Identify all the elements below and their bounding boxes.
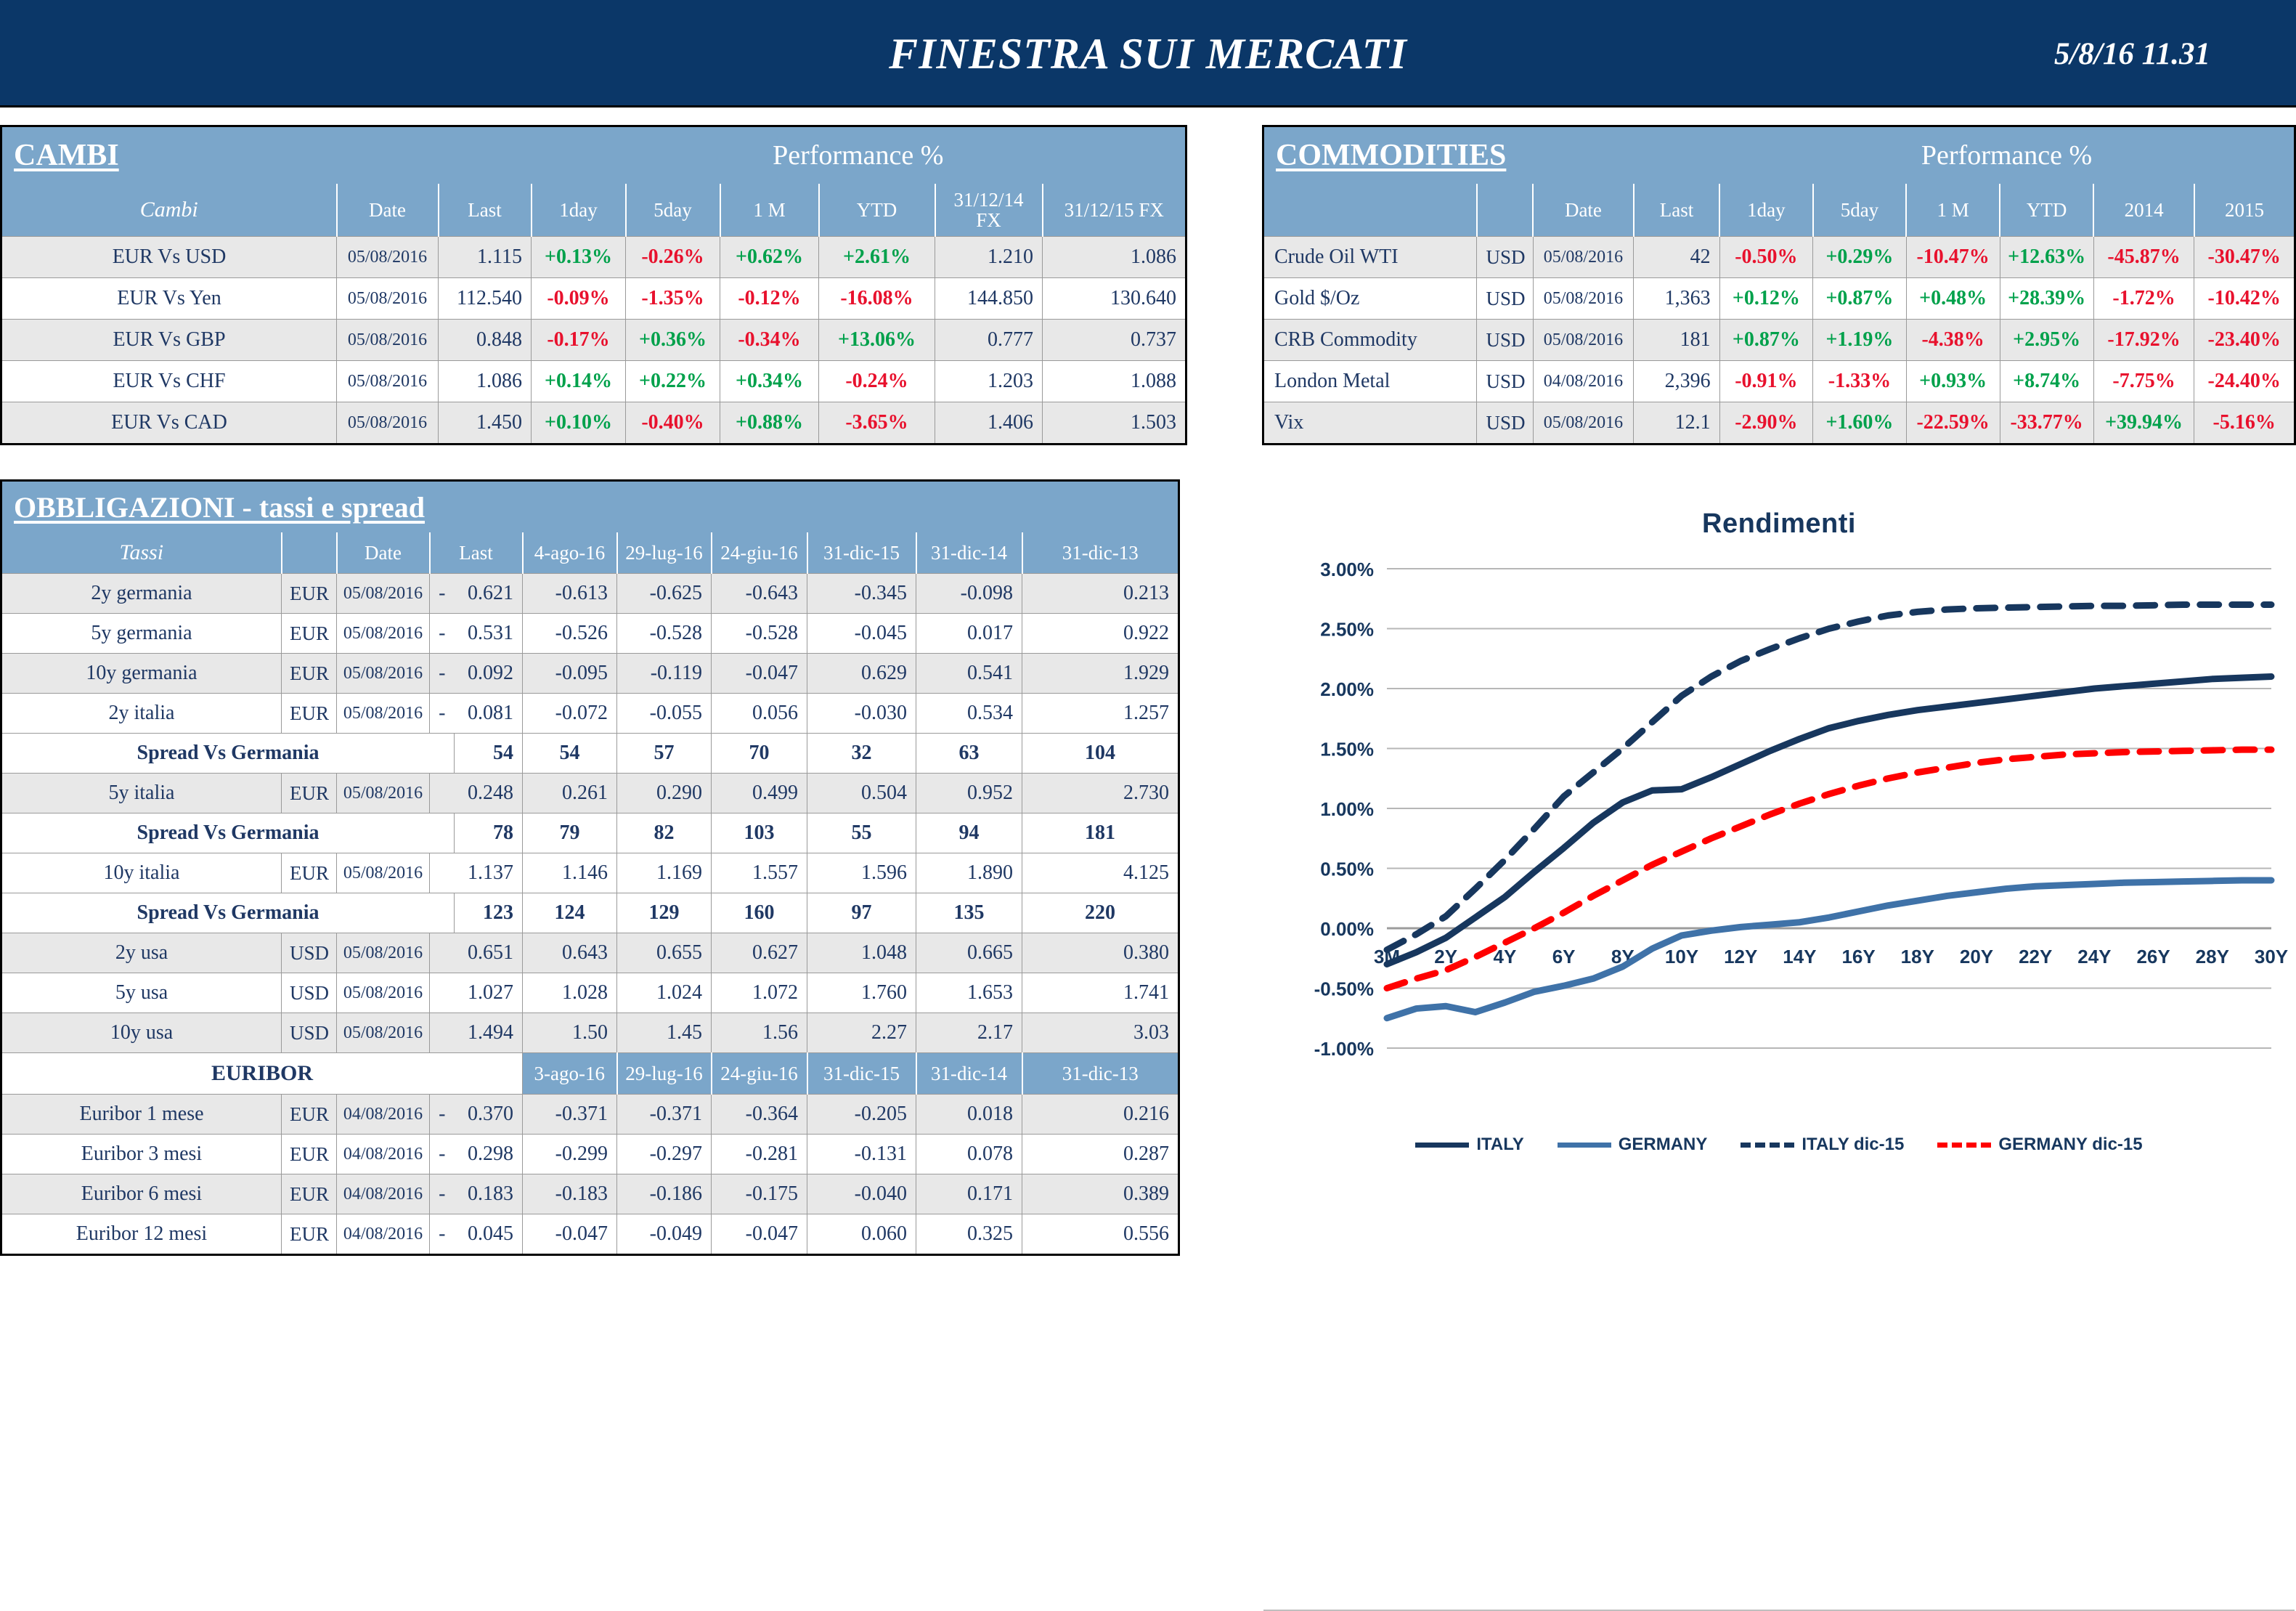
bond-row-c6: 1.741 [1022, 973, 1179, 1013]
spread-row: Spread Vs Germania545457703263104 [1, 734, 1179, 774]
bond-row-last: 1.137 [455, 853, 523, 893]
spread-c6: 220 [1022, 893, 1179, 933]
obbligazioni-col-currency [282, 532, 337, 574]
spread-c5: 135 [916, 893, 1022, 933]
bond-row-c5: 2.17 [916, 1013, 1022, 1053]
commodity-row-m1: -22.59% [1906, 402, 2000, 445]
cambi-row-last: 0.848 [439, 320, 532, 361]
bond-row-date: 05/08/2016 [337, 694, 430, 734]
table-row: 5y usaUSD05/08/20161.0271.0281.0241.0721… [1, 973, 1179, 1013]
cambi-row-fx15: 1.086 [1043, 237, 1186, 278]
spread-c2: 82 [617, 813, 712, 853]
spread-last: 54 [455, 734, 523, 774]
euribor-row-c4: -0.205 [807, 1095, 916, 1135]
spread-label: Spread Vs Germania [1, 893, 455, 933]
cambi-row-d1: -0.09% [532, 278, 626, 320]
commodities-col-date: Date [1533, 184, 1634, 237]
bond-row-c4: 0.504 [807, 774, 916, 813]
rendimenti-chart: 3.00%2.50%2.00%1.50%1.00%0.50%0.00%-0.50… [1263, 540, 2295, 1121]
commodity-row-d1: -0.50% [1719, 237, 1813, 278]
euribor-row-last: 0.298 [455, 1135, 523, 1174]
chart-x-tick-label: 10Y [1665, 946, 1698, 967]
obbligazioni-title-row: OBBLIGAZIONI - tassi e spread [1, 481, 1179, 533]
legend-item: GERMANY [1558, 1135, 1708, 1155]
commodity-row-name: Crude Oil WTI [1263, 237, 1477, 278]
cambi-row-d5: -0.26% [626, 237, 720, 278]
cambi-title-row: CAMBI Performance % [1, 126, 1186, 184]
bond-row-c4: -0.345 [807, 574, 916, 614]
spread-row: Spread Vs Germania7879821035594181 [1, 813, 1179, 853]
bond-row-currency: EUR [282, 654, 337, 694]
obbligazioni-table: OBBLIGAZIONI - tassi e spread Tassi Date… [0, 479, 1180, 1256]
table-row: 10y germaniaEUR05/08/2016-0.092-0.095-0.… [1, 654, 1179, 694]
bond-row-c6: 0.213 [1022, 574, 1179, 614]
euribor-row-name: Euribor 3 mesi [1, 1135, 282, 1174]
commodity-row-ytd: +12.63% [2000, 237, 2093, 278]
euribor-col-c4: 31-dic-15 [807, 1053, 916, 1095]
spread-c6: 104 [1022, 734, 1179, 774]
bond-row-c1: -0.095 [523, 654, 617, 694]
bond-row-c2: 1.169 [617, 853, 712, 893]
euribor-row-c1: -0.371 [523, 1095, 617, 1135]
table-row: 2y italiaEUR05/08/2016-0.081-0.072-0.055… [1, 694, 1179, 734]
cambi-row-name: EUR Vs GBP [1, 320, 337, 361]
commodities-title-row: COMMODITIES Performance % [1263, 126, 2295, 184]
cambi-row-d5: -1.35% [626, 278, 720, 320]
obbligazioni-col-c1: 4-ago-16 [523, 532, 617, 574]
bond-row-last: 1.027 [455, 973, 523, 1013]
bond-row-c6: 3.03 [1022, 1013, 1179, 1053]
obbligazioni-col-date: Date [337, 532, 430, 574]
bond-row-name: 5y italia [1, 774, 282, 813]
euribor-row-date: 04/08/2016 [337, 1135, 430, 1174]
table-row: EUR Vs CHF05/08/20161.086+0.14%+0.22%+0.… [1, 361, 1186, 402]
cambi-col-1day: 1day [532, 184, 626, 237]
bond-row-c1: 0.643 [523, 933, 617, 973]
euribor-row-c5: 0.018 [916, 1095, 1022, 1135]
obbligazioni-col-c4: 31-dic-15 [807, 532, 916, 574]
bond-row-c6: 1.257 [1022, 694, 1179, 734]
commodity-row-d5: +0.87% [1813, 278, 1907, 320]
spread-row: Spread Vs Germania12312412916097135220 [1, 893, 1179, 933]
euribor-row-currency: EUR [282, 1174, 337, 1214]
chart-y-tick-label: 0.00% [1320, 918, 1374, 940]
chart-x-tick-label: 26Y [2136, 946, 2170, 967]
commodity-row-d5: +1.19% [1813, 320, 1907, 361]
euribor-row-c4: -0.040 [807, 1174, 916, 1214]
commodity-row-name: Gold $/Oz [1263, 278, 1477, 320]
table-row: VixUSD05/08/201612.1-2.90%+1.60%-22.59%-… [1263, 402, 2295, 445]
bond-row-c3: 0.627 [712, 933, 807, 973]
bond-row-last: 1.494 [455, 1013, 523, 1053]
bond-row-c4: 1.596 [807, 853, 916, 893]
cambi-performance-header: Performance % [532, 126, 1186, 184]
cambi-row-last: 1.086 [439, 361, 532, 402]
cambi-col-name: Cambi [1, 184, 337, 237]
euribor-row-sign: - [430, 1174, 455, 1214]
commodities-col-1m: 1 M [1906, 184, 2000, 237]
bond-row-c3: 0.499 [712, 774, 807, 813]
bond-row-last: 0.621 [455, 574, 523, 614]
dashboard-page: FINESTRA SUI MERCATI 5/8/16 11.31 CAMBI … [0, 0, 2296, 1244]
bond-row-sign [430, 1013, 455, 1053]
bond-row-name: 2y germania [1, 574, 282, 614]
cambi-row-date: 05/08/2016 [337, 278, 439, 320]
cambi-row-fx14: 1.406 [935, 402, 1043, 445]
bond-row-date: 05/08/2016 [337, 574, 430, 614]
bond-row-c2: 1.024 [617, 973, 712, 1013]
commodity-row-date: 04/08/2016 [1533, 361, 1634, 402]
bond-row-c4: 0.629 [807, 654, 916, 694]
commodity-row-name: Vix [1263, 402, 1477, 445]
commodity-row-m1: +0.93% [1906, 361, 2000, 402]
legend-swatch-icon [1741, 1143, 1794, 1148]
table-row: London MetalUSD04/08/20162,396-0.91%-1.3… [1263, 361, 2295, 402]
bond-row-c3: -0.047 [712, 654, 807, 694]
commodities-section-title: COMMODITIES [1263, 126, 1720, 184]
spread-c3: 103 [712, 813, 807, 853]
spread-c3: 70 [712, 734, 807, 774]
bond-row-c4: -0.030 [807, 694, 916, 734]
commodities-col-2015: 2015 [2194, 184, 2295, 237]
spread-c5: 94 [916, 813, 1022, 853]
obbligazioni-col-tassi: Tassi [1, 532, 282, 574]
table-row: 10y italiaEUR05/08/20161.1371.1461.1691.… [1, 853, 1179, 893]
bond-row-sign: - [430, 694, 455, 734]
bond-row-currency: EUR [282, 694, 337, 734]
bond-row-name: 10y germania [1, 654, 282, 694]
chart-y-tick-label: -0.50% [1314, 978, 1374, 1000]
legend-swatch-icon [1415, 1143, 1469, 1148]
spread-label: Spread Vs Germania [1, 734, 455, 774]
cambi-row-fx15: 1.088 [1043, 361, 1186, 402]
euribor-row-c2: -0.186 [617, 1174, 712, 1214]
bond-row-c1: -0.613 [523, 574, 617, 614]
bond-row-c2: -0.055 [617, 694, 712, 734]
spread-label: Spread Vs Germania [1, 813, 455, 853]
chart-x-tick-label: 12Y [1724, 946, 1757, 967]
chart-title: Rendimenti [1263, 508, 2295, 540]
obbligazioni-col-c2: 29-lug-16 [617, 532, 712, 574]
bond-row-c5: 1.890 [916, 853, 1022, 893]
bond-row-c2: -0.528 [617, 614, 712, 654]
bond-row-currency: EUR [282, 574, 337, 614]
bond-row-c3: -0.643 [712, 574, 807, 614]
euribor-row-name: Euribor 6 mesi [1, 1174, 282, 1214]
commodity-row-d5: +1.60% [1813, 402, 1907, 445]
bond-row-c5: 0.952 [916, 774, 1022, 813]
euribor-row-currency: EUR [282, 1095, 337, 1135]
spread-c1: 124 [523, 893, 617, 933]
euribor-col-c1: 3-ago-16 [523, 1053, 617, 1095]
commodity-row-y2015: -23.40% [2194, 320, 2295, 361]
commodity-row-last: 1,363 [1634, 278, 1719, 320]
euribor-row-sign: - [430, 1135, 455, 1174]
table-row: Euribor 12 mesiEUR04/08/2016-0.045-0.047… [1, 1214, 1179, 1255]
euribor-header-row: EURIBOR 3-ago-16 29-lug-16 24-giu-16 31-… [1, 1053, 1179, 1095]
commodity-row-m1: +0.48% [1906, 278, 2000, 320]
commodity-row-y2015: -30.47% [2194, 237, 2295, 278]
cambi-row-fx14: 144.850 [935, 278, 1043, 320]
table-row: Euribor 6 mesiEUR04/08/2016-0.183-0.183-… [1, 1174, 1179, 1214]
cambi-row-name: EUR Vs CAD [1, 402, 337, 445]
commodity-row-y2015: -24.40% [2194, 361, 2295, 402]
euribor-row-c1: -0.047 [523, 1214, 617, 1255]
commodity-row-y2014: +39.94% [2093, 402, 2194, 445]
cambi-row-d5: +0.22% [626, 361, 720, 402]
euribor-row-c3: -0.364 [712, 1095, 807, 1135]
commodity-row-ytd: +28.39% [2000, 278, 2093, 320]
commodities-col-1day: 1day [1719, 184, 1813, 237]
bond-row-last: 0.092 [455, 654, 523, 694]
cambi-row-d5: -0.40% [626, 402, 720, 445]
cambi-row-m1: -0.12% [720, 278, 819, 320]
spread-c4: 55 [807, 813, 916, 853]
cambi-row-last: 112.540 [439, 278, 532, 320]
cambi-col-1m: 1 M [720, 184, 819, 237]
legend-swatch-icon [1937, 1143, 1991, 1148]
legend-label: ITALY [1476, 1135, 1523, 1155]
bond-row-c2: -0.625 [617, 574, 712, 614]
bond-row-date: 05/08/2016 [337, 933, 430, 973]
commodity-row-y2014: -17.92% [2093, 320, 2194, 361]
bond-row-date: 05/08/2016 [337, 853, 430, 893]
cambi-row-d1: +0.13% [532, 237, 626, 278]
spread-c6: 181 [1022, 813, 1179, 853]
chart-x-tick-label: 14Y [1783, 946, 1816, 967]
cambi-col-date: Date [337, 184, 439, 237]
commodity-row-d1: -2.90% [1719, 402, 1813, 445]
euribor-row-last: 0.183 [455, 1174, 523, 1214]
obbligazioni-col-c6: 31-dic-13 [1022, 532, 1179, 574]
table-row: EUR Vs GBP05/08/20160.848-0.17%+0.36%-0.… [1, 320, 1186, 361]
euribor-row-c3: -0.047 [712, 1214, 807, 1255]
bond-row-name: 5y germania [1, 614, 282, 654]
bond-row-sign [430, 933, 455, 973]
legend-label: ITALY dic-15 [1802, 1135, 1904, 1155]
commodity-row-m1: -10.47% [1906, 237, 2000, 278]
bond-row-currency: USD [282, 973, 337, 1013]
euribor-row-sign: - [430, 1214, 455, 1255]
legend-swatch-icon [1558, 1143, 1611, 1148]
spread-c2: 57 [617, 734, 712, 774]
bond-row-currency: EUR [282, 774, 337, 813]
bond-row-name: 5y usa [1, 973, 282, 1013]
bond-row-last: 0.081 [455, 694, 523, 734]
commodity-row-date: 05/08/2016 [1533, 402, 1634, 445]
bond-row-date: 05/08/2016 [337, 973, 430, 1013]
cambi-row-ytd: +2.61% [819, 237, 935, 278]
cambi-row-date: 05/08/2016 [337, 402, 439, 445]
chart-y-tick-label: 0.50% [1320, 859, 1374, 880]
cambi-row-ytd: +13.06% [819, 320, 935, 361]
legend-item: ITALY [1415, 1135, 1523, 1155]
bond-row-c4: -0.045 [807, 614, 916, 654]
cambi-col-5day: 5day [626, 184, 720, 237]
cambi-row-name: EUR Vs USD [1, 237, 337, 278]
bond-row-c1: 1.50 [523, 1013, 617, 1053]
commodity-row-y2015: -5.16% [2194, 402, 2295, 445]
bond-row-c4: 1.048 [807, 933, 916, 973]
bond-row-c6: 2.730 [1022, 774, 1179, 813]
chart-x-tick-label: 18Y [1901, 946, 1934, 967]
bond-row-c3: 1.56 [712, 1013, 807, 1053]
chart-y-tick-label: 1.50% [1320, 739, 1374, 760]
bond-row-date: 05/08/2016 [337, 614, 430, 654]
commodities-col-ytd: YTD [2000, 184, 2093, 237]
cambi-row-fx14: 0.777 [935, 320, 1043, 361]
euribor-row-c2: -0.049 [617, 1214, 712, 1255]
chart-series-italy-dic-15 [1387, 605, 2271, 950]
table-row: 5y germaniaEUR05/08/2016-0.531-0.526-0.5… [1, 614, 1179, 654]
spread-c5: 63 [916, 734, 1022, 774]
bond-row-name: 10y usa [1, 1013, 282, 1053]
euribor-title: EURIBOR [1, 1053, 523, 1095]
commodity-row-date: 05/08/2016 [1533, 320, 1634, 361]
bond-row-c1: 1.146 [523, 853, 617, 893]
commodities-col-5day: 5day [1813, 184, 1907, 237]
commodity-row-currency: USD [1477, 320, 1533, 361]
commodities-panel: COMMODITIES Performance % Date Last 1day… [1262, 125, 2296, 445]
euribor-row-currency: EUR [282, 1214, 337, 1255]
bond-row-c5: -0.098 [916, 574, 1022, 614]
spread-c4: 32 [807, 734, 916, 774]
bond-row-c1: 0.261 [523, 774, 617, 813]
chart-x-tick-label: 16Y [1841, 946, 1875, 967]
spread-c2: 129 [617, 893, 712, 933]
commodities-table: COMMODITIES Performance % Date Last 1day… [1262, 125, 2296, 445]
app-header: FINESTRA SUI MERCATI 5/8/16 11.31 [0, 0, 2296, 107]
bond-row-c2: -0.119 [617, 654, 712, 694]
commodity-row-currency: USD [1477, 278, 1533, 320]
spread-last: 78 [455, 813, 523, 853]
euribor-row-last: 0.045 [455, 1214, 523, 1255]
table-row: 2y germaniaEUR05/08/2016-0.621-0.613-0.6… [1, 574, 1179, 614]
obbligazioni-header-row: Tassi Date Last 4-ago-16 29-lug-16 24-gi… [1, 532, 1179, 574]
table-row: Euribor 3 mesiEUR04/08/2016-0.298-0.299-… [1, 1135, 1179, 1174]
euribor-row-sign: - [430, 1095, 455, 1135]
commodity-row-currency: USD [1477, 402, 1533, 445]
commodity-row-ytd: -33.77% [2000, 402, 2093, 445]
euribor-row-name: Euribor 1 mese [1, 1095, 282, 1135]
cambi-col-last: Last [439, 184, 532, 237]
cambi-row-last: 1.450 [439, 402, 532, 445]
euribor-row-currency: EUR [282, 1135, 337, 1174]
spread-c3: 160 [712, 893, 807, 933]
legend-item: GERMANY dic-15 [1937, 1135, 2142, 1155]
page-title: FINESTRA SUI MERCATI [0, 0, 2296, 107]
bond-row-c3: 0.056 [712, 694, 807, 734]
bond-row-date: 05/08/2016 [337, 774, 430, 813]
euribor-row-c2: -0.371 [617, 1095, 712, 1135]
commodity-row-y2014: -45.87% [2093, 237, 2194, 278]
euribor-row-last: 0.370 [455, 1095, 523, 1135]
table-row: CRB CommodityUSD05/08/2016181+0.87%+1.19… [1263, 320, 2295, 361]
bond-row-c5: 0.665 [916, 933, 1022, 973]
commodity-row-d5: -1.33% [1813, 361, 1907, 402]
cambi-row-fx15: 1.503 [1043, 402, 1186, 445]
euribor-col-c6: 31-dic-13 [1022, 1053, 1179, 1095]
euribor-col-c2: 29-lug-16 [617, 1053, 712, 1095]
obbligazioni-section-title: OBBLIGAZIONI - tassi e spread [1, 481, 523, 533]
table-row: EUR Vs CAD05/08/20161.450+0.10%-0.40%+0.… [1, 402, 1186, 445]
commodity-row-last: 12.1 [1634, 402, 1719, 445]
bond-row-name: 2y usa [1, 933, 282, 973]
bond-row-currency: EUR [282, 614, 337, 654]
bond-row-currency: USD [282, 1013, 337, 1053]
euribor-row-c1: -0.183 [523, 1174, 617, 1214]
bond-row-c1: -0.072 [523, 694, 617, 734]
euribor-row-c2: -0.297 [617, 1135, 712, 1174]
bond-row-c6: 0.922 [1022, 614, 1179, 654]
euribor-col-c5: 31-dic-14 [916, 1053, 1022, 1095]
bond-row-last: 0.531 [455, 614, 523, 654]
chart-x-tick-label: 6Y [1552, 946, 1576, 967]
table-row: Euribor 1 meseEUR04/08/2016-0.370-0.371-… [1, 1095, 1179, 1135]
euribor-row-c3: -0.175 [712, 1174, 807, 1214]
cambi-row-m1: +0.62% [720, 237, 819, 278]
commodity-row-ytd: +2.95% [2000, 320, 2093, 361]
cambi-row-d1: +0.14% [532, 361, 626, 402]
cambi-section-title: CAMBI [1, 126, 532, 184]
euribor-row-name: Euribor 12 mesi [1, 1214, 282, 1255]
obbligazioni-col-c5: 31-dic-14 [916, 532, 1022, 574]
chart-y-tick-label: 3.00% [1320, 559, 1374, 580]
spread-c1: 79 [523, 813, 617, 853]
bond-row-sign: - [430, 574, 455, 614]
cambi-row-date: 05/08/2016 [337, 237, 439, 278]
legend-item: ITALY dic-15 [1741, 1135, 1904, 1155]
commodity-row-ytd: +8.74% [2000, 361, 2093, 402]
bond-row-date: 05/08/2016 [337, 1013, 430, 1053]
commodities-header-row: Date Last 1day 5day 1 M YTD 2014 2015 [1263, 184, 2295, 237]
commodity-row-d5: +0.29% [1813, 237, 1907, 278]
commodity-row-last: 42 [1634, 237, 1719, 278]
obbligazioni-col-last: Last [430, 532, 523, 574]
legend-label: GERMANY dic-15 [1998, 1135, 2142, 1155]
cambi-row-ytd: -3.65% [819, 402, 935, 445]
commodities-col-currency [1477, 184, 1533, 237]
spread-c1: 54 [523, 734, 617, 774]
bond-row-sign [430, 973, 455, 1013]
bond-row-c2: 0.655 [617, 933, 712, 973]
bond-row-sign: - [430, 654, 455, 694]
chart-y-tick-label: 2.50% [1320, 619, 1374, 641]
bond-row-c1: 1.028 [523, 973, 617, 1013]
euribor-row-c1: -0.299 [523, 1135, 617, 1174]
commodity-row-date: 05/08/2016 [1533, 237, 1634, 278]
cambi-row-date: 05/08/2016 [337, 320, 439, 361]
bond-row-c3: 1.557 [712, 853, 807, 893]
cambi-row-ytd: -0.24% [819, 361, 935, 402]
obbligazioni-title-spacer [523, 481, 1179, 533]
cambi-row-m1: +0.88% [720, 402, 819, 445]
legend-label: GERMANY [1619, 1135, 1708, 1155]
euribor-row-c3: -0.281 [712, 1135, 807, 1174]
spread-c4: 97 [807, 893, 916, 933]
cambi-row-last: 1.115 [439, 237, 532, 278]
bond-row-last: 0.651 [455, 933, 523, 973]
cambi-row-fx14: 1.203 [935, 361, 1043, 402]
chart-x-tick-label: 20Y [1960, 946, 1993, 967]
obbligazioni-col-c3: 24-giu-16 [712, 532, 807, 574]
chart-y-tick-label: -1.00% [1314, 1038, 1374, 1060]
chart-y-tick-label: 1.00% [1320, 798, 1374, 820]
euribor-row-c6: 0.216 [1022, 1095, 1179, 1135]
commodity-row-d1: +0.87% [1719, 320, 1813, 361]
cambi-row-fx15: 0.737 [1043, 320, 1186, 361]
bond-row-c5: 0.541 [916, 654, 1022, 694]
